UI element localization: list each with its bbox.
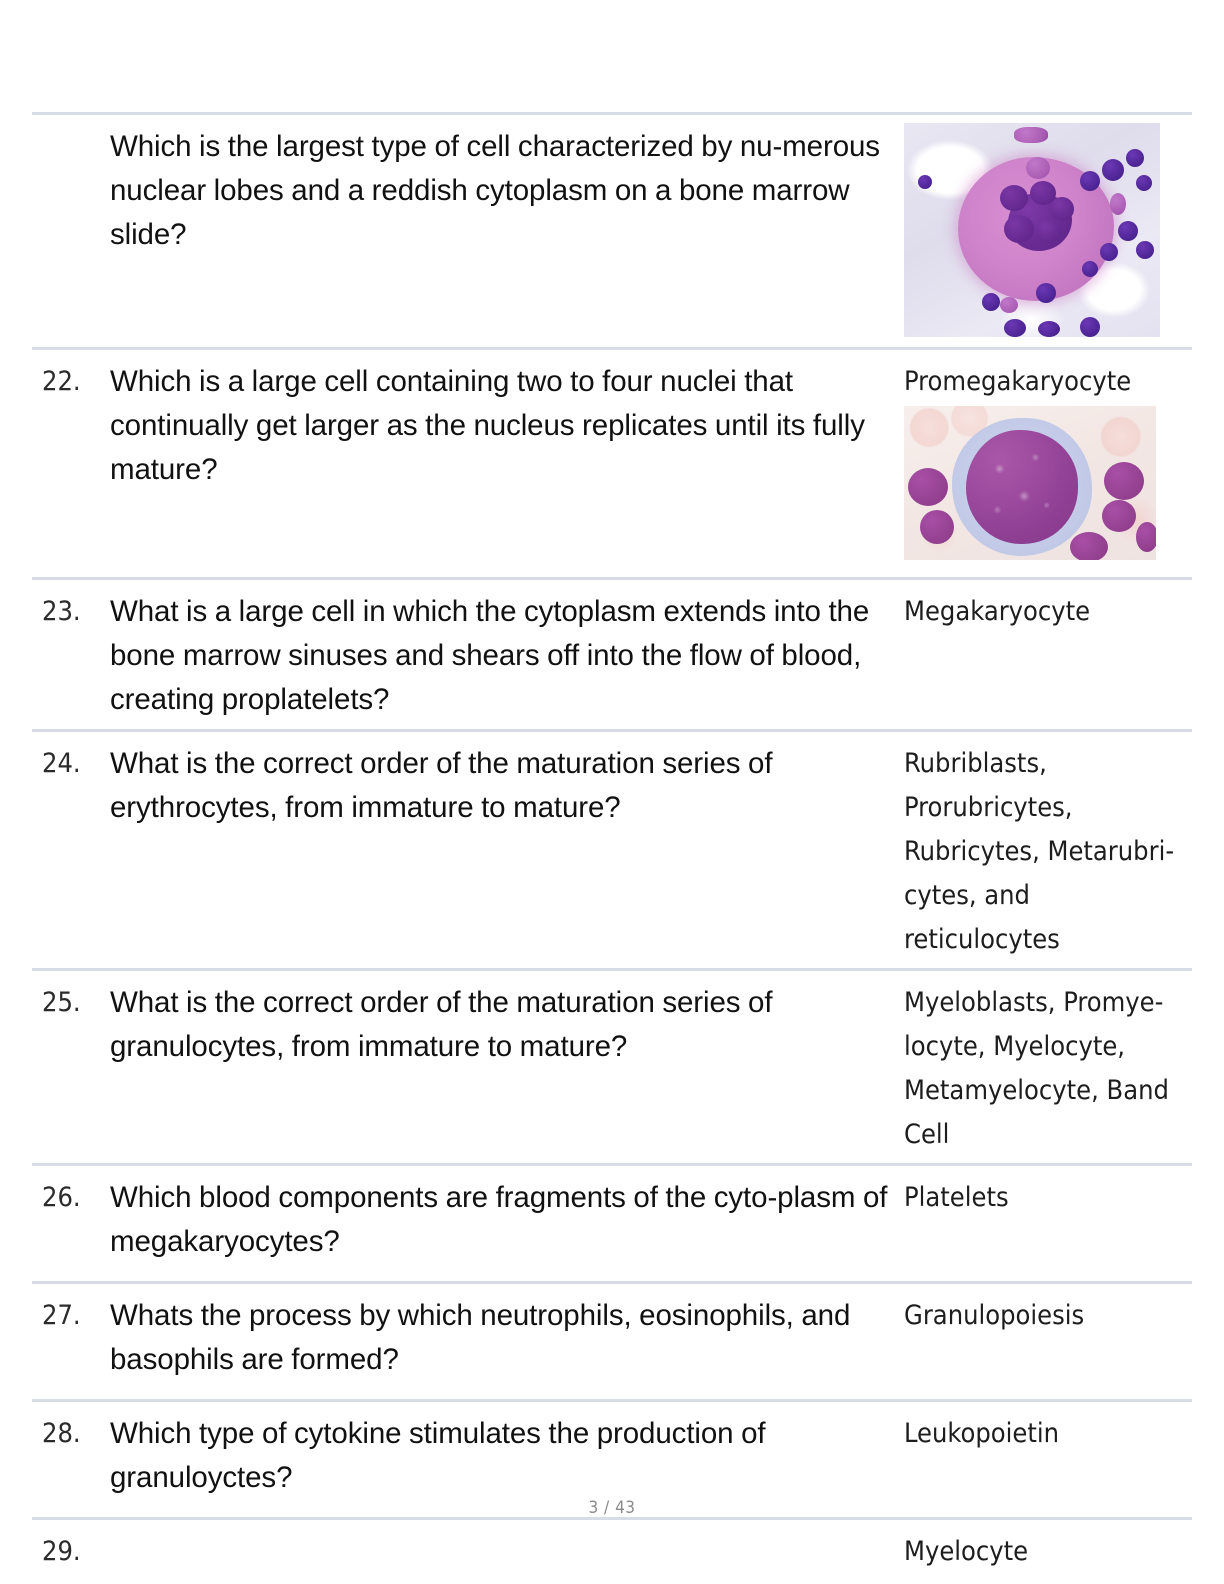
nucleated-cell — [1136, 241, 1154, 259]
neighboring-cell — [920, 510, 954, 544]
row-number: 29. — [32, 1530, 110, 1574]
neighboring-cell — [1104, 462, 1144, 500]
table-row: 24. What is the correct order of the mat… — [32, 729, 1192, 968]
row-answer-cell: Platelets — [903, 1176, 1192, 1220]
nucleated-cell — [1080, 317, 1100, 337]
row-answer-cell: Myelocyte — [903, 1530, 1192, 1574]
nucleated-cell — [1102, 159, 1124, 181]
table-row: 23. What is a large cell in which the cy… — [32, 577, 1192, 729]
neighboring-cell — [908, 468, 948, 506]
table-row: 26. Which blood components are fragments… — [32, 1163, 1192, 1281]
row-answer: Megakaryocyte — [904, 590, 1192, 634]
nucleated-cell — [982, 293, 1000, 311]
row-number: 23. — [32, 590, 110, 634]
nucleated-cell — [1126, 149, 1144, 167]
row-question: Which blood components are fragments of … — [110, 1176, 903, 1264]
row-answer-cell: Rubriblasts, Prorubricytes, Rubricytes, … — [903, 742, 1192, 962]
row-answer-cell — [903, 125, 1192, 337]
row-question: Which type of cytokine stimulates the pr… — [110, 1412, 903, 1500]
nucleated-cell — [1080, 171, 1100, 191]
nuclear-lobe — [1004, 215, 1034, 243]
row-answer: Promegakaryocyte — [904, 360, 1192, 404]
row-number: 28. — [32, 1412, 110, 1456]
row-answer-cell: Granulopoiesis — [903, 1294, 1192, 1338]
nucleated-cell — [1026, 157, 1050, 179]
row-question: Which is the largest type of cell charac… — [110, 125, 903, 257]
row-answer: Myelocyte — [904, 1530, 1192, 1574]
row-number: 27. — [32, 1294, 110, 1338]
row-question: Which is a large cell containing two to … — [110, 360, 903, 492]
document-page: Which is the largest type of cell charac… — [0, 0, 1224, 1584]
row-answer: Granulopoiesis — [904, 1294, 1192, 1338]
nucleated-cell — [1082, 261, 1098, 277]
platelet-clump — [1014, 127, 1048, 143]
nucleated-cell — [1036, 283, 1056, 303]
nucleated-cell — [1136, 175, 1152, 191]
row-answer: Rubriblasts, Prorubricytes, Rubricytes, … — [904, 742, 1192, 962]
row-answer-cell: Leukopoietin — [903, 1412, 1192, 1456]
table-row: 29. Myelocyte — [32, 1517, 1192, 1580]
row-number: 26. — [32, 1176, 110, 1220]
table-row: 27. Whats the process by which neutrophi… — [32, 1281, 1192, 1399]
row-number: 22. — [32, 360, 110, 404]
table-row: 25. What is the correct order of the mat… — [32, 968, 1192, 1163]
row-answer: Platelets — [904, 1176, 1192, 1220]
promegakaryocyte-micrograph — [904, 406, 1156, 560]
neighboring-cell — [1070, 532, 1108, 560]
nucleated-cell — [1038, 321, 1060, 337]
neighboring-cell — [1136, 522, 1156, 552]
nucleated-cell — [1000, 297, 1018, 313]
row-answer-cell: Myeloblasts, Promye-locyte, Myelocyte, M… — [903, 981, 1192, 1157]
row-answer: Myeloblasts, Promye-locyte, Myelocyte, M… — [904, 981, 1192, 1157]
row-number: 25. — [32, 981, 110, 1025]
nucleated-cell — [1110, 193, 1126, 215]
nuclear-lobe — [1036, 219, 1062, 243]
nucleated-cell — [1100, 243, 1118, 261]
promegakaryocyte-nucleus — [966, 430, 1078, 544]
row-question: What is a large cell in which the cytopl… — [110, 590, 903, 722]
nuclear-lobe — [1000, 185, 1028, 211]
row-number: 24. — [32, 742, 110, 786]
question-answer-table: Which is the largest type of cell charac… — [32, 112, 1192, 1580]
nuclear-lobe — [1050, 197, 1074, 221]
megakaryocyte-bone-marrow-micrograph — [904, 123, 1160, 337]
page-number-footer: 3 / 43 — [0, 1498, 1224, 1518]
row-question: What is the correct order of the maturat… — [110, 742, 903, 830]
neighboring-cell — [1102, 500, 1136, 532]
row-answer-cell: Megakaryocyte — [903, 590, 1192, 634]
table-row: Which is the largest type of cell charac… — [32, 112, 1192, 347]
nucleated-cell — [1118, 221, 1138, 241]
row-answer: Leukopoietin — [904, 1412, 1192, 1456]
nucleated-cell — [1004, 319, 1026, 337]
row-question: What is the correct order of the maturat… — [110, 981, 903, 1069]
table-row: 22. Which is a large cell containing two… — [32, 347, 1192, 577]
row-question: Whats the process by which neutrophils, … — [110, 1294, 903, 1382]
nucleated-cell — [918, 175, 932, 189]
row-answer-cell: Promegakaryocyte — [903, 360, 1192, 560]
